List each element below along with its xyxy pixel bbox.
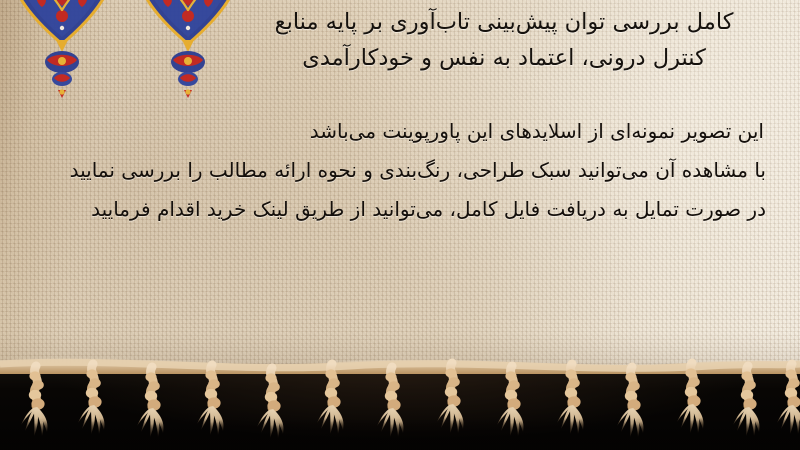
slide-text-layer: کامل بررسی توان پیش‌بینی تاب‌آوری بر پای… xyxy=(0,0,800,378)
slide-body-line-1: این تصویر نمونه‌ای از اسلایدهای این پاور… xyxy=(34,112,766,151)
slide-title: کامل بررسی توان پیش‌بینی تاب‌آوری بر پای… xyxy=(244,4,764,76)
slide-body-line-3: در صورت تمایل به دریافت فایل کامل، می‌تو… xyxy=(34,190,766,229)
slide-body-line-2: با مشاهده آن می‌توانید سبک طراحی، رنگ‌بن… xyxy=(34,151,766,190)
slide-title-line-1: کامل بررسی توان پیش‌بینی تاب‌آوری بر پای… xyxy=(244,4,764,40)
slide-title-line-2: کنترل درونی، اعتماد به نفس و خودکارآمدی xyxy=(244,40,764,76)
slide-canvas: کامل بررسی توان پیش‌بینی تاب‌آوری بر پای… xyxy=(0,0,800,450)
slide-body: این تصویر نمونه‌ای از اسلایدهای این پاور… xyxy=(34,112,766,229)
